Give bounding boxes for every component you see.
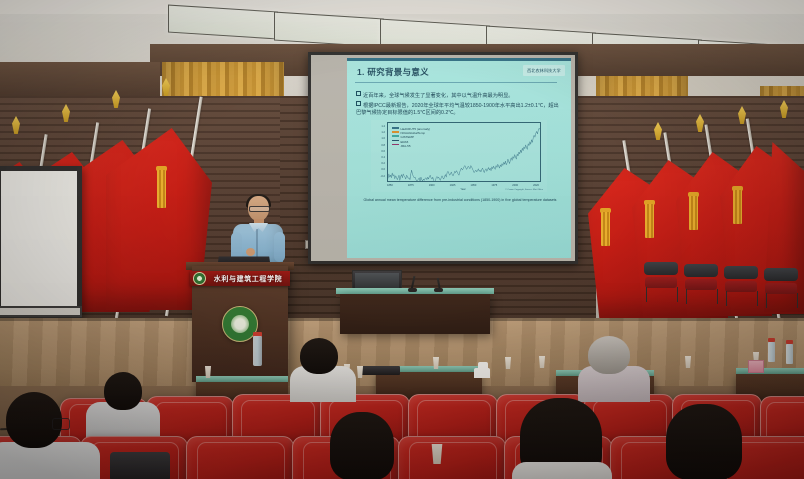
stage-chair[interactable] bbox=[644, 262, 678, 302]
chart-credit: © Crown Copyright, Source: Met Office bbox=[505, 189, 543, 191]
school-logo-icon bbox=[193, 272, 206, 285]
slide-bullet: 近百年来，全球气候发生了显著变化，其中以气温升高最为明显。 bbox=[356, 91, 562, 100]
chair-back bbox=[684, 264, 718, 277]
x-tick: 1950 bbox=[471, 184, 477, 187]
stage-chair[interactable] bbox=[724, 266, 758, 306]
auditorium-photo: 1. 研究背景与意义 西北农林科技大学 近百年来，全球气候发生了显著变化，其中以… bbox=[0, 0, 804, 479]
flag-tassel bbox=[645, 204, 654, 238]
chart-plot-area: HadCRUT5 (anomaly) NOAAGlobalTemp GISTEM… bbox=[387, 122, 541, 182]
chart-x-axis: 1850 1875 1900 1925 1950 1975 2000 2020 bbox=[387, 184, 539, 187]
light-panel bbox=[168, 5, 278, 40]
legend-entry: JRA-55 bbox=[392, 144, 436, 148]
slide-bullet: 根据IPCC最新报告，2020年全球年平均气温较1850-1900年水平高出1.… bbox=[356, 101, 562, 116]
flag-finial bbox=[780, 100, 788, 118]
seat-piping bbox=[197, 442, 286, 479]
water-bottle bbox=[786, 344, 793, 364]
podium-banner-text: 水利与建筑工程学院 bbox=[206, 274, 290, 284]
chair-legs bbox=[766, 293, 798, 308]
slide-chart-caption: Global annual mean temperature differenc… bbox=[357, 198, 563, 203]
audience-seat[interactable] bbox=[186, 436, 294, 479]
chair-legs bbox=[726, 291, 758, 306]
chair-legs bbox=[646, 287, 678, 302]
presenter-hand bbox=[246, 248, 255, 256]
flag-finial bbox=[654, 122, 662, 140]
glasses-icon bbox=[52, 418, 70, 430]
flag-finial bbox=[62, 104, 70, 122]
audience-member-head bbox=[666, 404, 742, 479]
audience-member-head bbox=[104, 372, 142, 410]
x-tick: 1925 bbox=[450, 184, 456, 187]
light-panel bbox=[274, 12, 384, 48]
university-logo-watermark: 西北农林科技大学 bbox=[523, 65, 565, 76]
stage-chair[interactable] bbox=[764, 268, 798, 308]
audience-member-head bbox=[588, 336, 630, 374]
chair-back bbox=[724, 266, 758, 279]
bullet-marker-icon bbox=[356, 91, 361, 96]
chart-legend: HadCRUT5 (anomaly) NOAAGlobalTemp GISTEM… bbox=[392, 127, 436, 148]
chair-back bbox=[644, 262, 678, 275]
audience-member-head bbox=[300, 338, 338, 374]
chair-legs bbox=[686, 289, 718, 304]
temperature-anomaly-chart: 1.4 1.2 1.0 0.8 0.6 0.4 0.2 0.0 -0.2 Had… bbox=[371, 120, 547, 192]
flag-finial bbox=[738, 106, 746, 124]
flag-tassel bbox=[733, 190, 742, 224]
audience-member-shoulders bbox=[512, 462, 612, 479]
flip-chart-tray bbox=[0, 306, 82, 317]
audience-seat[interactable] bbox=[398, 436, 506, 479]
microphone-base bbox=[408, 288, 417, 292]
x-tick: 1850 bbox=[387, 184, 393, 187]
flag-finial bbox=[112, 90, 120, 108]
y-tick: -0.2 bbox=[371, 174, 385, 180]
x-tick: 2000 bbox=[512, 184, 518, 187]
presentation-slide: 1. 研究背景与意义 西北农林科技大学 近百年来，全球气候发生了显著变化，其中以… bbox=[347, 58, 571, 258]
monitor-screen bbox=[355, 273, 399, 288]
flag-tassel bbox=[689, 196, 698, 230]
tissue-box bbox=[748, 360, 764, 373]
water-bottle bbox=[253, 336, 262, 366]
audience-member-shoulders bbox=[0, 442, 100, 479]
slide-title: 1. 研究背景与意义 bbox=[357, 66, 507, 79]
slide-bullet-text: 根据IPCC最新报告，2020年全球年平均气温较1850-1900年水平高出1.… bbox=[356, 103, 559, 116]
flag-finial bbox=[12, 116, 20, 134]
flag-tassel bbox=[601, 212, 610, 246]
laptop bbox=[360, 366, 400, 375]
chair-back bbox=[764, 268, 798, 281]
tissue-sheet bbox=[478, 362, 488, 370]
microphone-base bbox=[434, 288, 443, 292]
slide-bullet-text: 近百年来，全球气候发生了显著变化，其中以气温升高最为明显。 bbox=[363, 93, 513, 99]
stage-chair[interactable] bbox=[684, 264, 718, 304]
seat-piping bbox=[409, 442, 498, 479]
chart-y-axis: 1.4 1.2 1.0 0.8 0.6 0.4 0.2 0.0 -0.2 bbox=[371, 124, 385, 180]
water-bottle bbox=[768, 342, 775, 362]
audience-member-head bbox=[330, 412, 394, 479]
flag-tassel bbox=[157, 170, 166, 208]
glasses-icon bbox=[249, 206, 270, 212]
podium-banner: 水利与建筑工程学院 bbox=[190, 271, 290, 286]
flip-chart-board bbox=[0, 166, 82, 322]
emblem-inner bbox=[231, 315, 249, 333]
x-tick: 1900 bbox=[429, 184, 435, 187]
x-tick: 1975 bbox=[491, 184, 497, 187]
head-table bbox=[340, 294, 490, 334]
bullet-marker-icon bbox=[356, 101, 361, 106]
handbag bbox=[110, 452, 170, 479]
flag-finial bbox=[696, 114, 704, 132]
slide-accent-bar bbox=[347, 58, 571, 61]
x-tick: 1875 bbox=[408, 184, 414, 187]
projection-screen: 1. 研究背景与意义 西北农林科技大学 近百年来，全球气候发生了显著变化，其中以… bbox=[308, 52, 578, 264]
slide-title-rule bbox=[355, 82, 557, 83]
presenter-arm-right bbox=[274, 232, 285, 262]
flag-finial bbox=[162, 78, 170, 96]
x-tick: 2020 bbox=[533, 184, 539, 187]
